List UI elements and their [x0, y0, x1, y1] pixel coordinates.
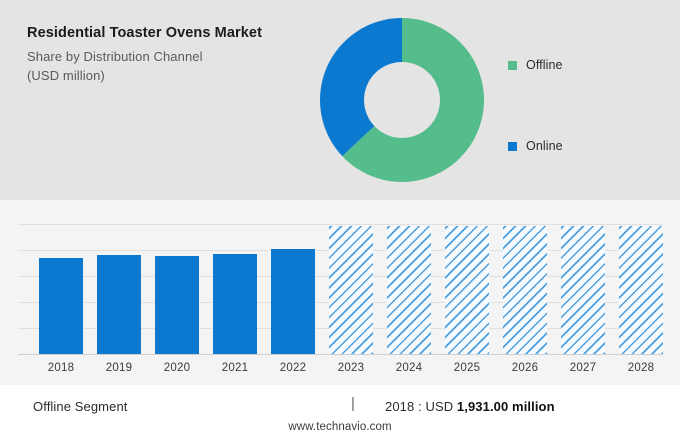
footer-website: www.technavio.com [0, 421, 680, 433]
bar-2027[interactable] [561, 226, 605, 354]
title-block: Residential Toaster Ovens Market Share b… [27, 24, 317, 85]
legend-item-offline[interactable]: Offline [508, 58, 563, 72]
bar-2025[interactable] [445, 226, 489, 354]
x-axis-line [18, 354, 663, 355]
bar-2021[interactable] [213, 254, 257, 354]
donut-hole [364, 62, 440, 138]
bar-2022[interactable] [271, 249, 315, 354]
x-axis-label-2028: 2028 [612, 362, 670, 374]
bar-2023[interactable] [329, 226, 373, 354]
donut-chart [319, 17, 485, 183]
chart-image: Residential Toaster Ovens Market Share b… [0, 0, 680, 440]
donut-chart-svg [319, 17, 485, 183]
footer-value: 2018 : USD 1,931.00 million [385, 399, 555, 414]
x-axis-label-2020: 2020 [148, 362, 206, 374]
x-axis-label-2026: 2026 [496, 362, 554, 374]
footer-separator: | [351, 395, 355, 412]
bar-2024[interactable] [387, 226, 431, 354]
header-band: Residential Toaster Ovens Market Share b… [0, 0, 680, 200]
x-axis-label-2023: 2023 [322, 362, 380, 374]
footer-value-prefix: 2018 : USD [385, 399, 453, 414]
bar-2026[interactable] [503, 226, 547, 354]
page-title: Residential Toaster Ovens Market [27, 24, 317, 43]
gridline [18, 224, 663, 225]
bar-2018[interactable] [39, 258, 83, 355]
x-axis-label-2021: 2021 [206, 362, 264, 374]
x-axis-label-2025: 2025 [438, 362, 496, 374]
legend-label-online: Online [526, 139, 563, 153]
footer: Offline Segment | 2018 : USD 1,931.00 mi… [0, 385, 680, 440]
legend-item-online[interactable]: Online [508, 139, 563, 153]
x-axis-label-2018: 2018 [32, 362, 90, 374]
x-axis-label-2022: 2022 [264, 362, 322, 374]
bar-chart-panel: 2018201920202021202220232024202520262027… [0, 200, 680, 385]
bar-2020[interactable] [155, 256, 199, 354]
footer-segment-label: Offline Segment [33, 399, 127, 414]
chart-subtitle-line2: (USD million) [27, 66, 317, 85]
chart-subtitle-line1: Share by Distribution Channel [27, 47, 317, 66]
legend-label-offline: Offline [526, 58, 563, 72]
bar-2019[interactable] [97, 255, 141, 354]
legend-swatch-offline-icon [508, 61, 517, 70]
footer-value-bold: 1,931.00 million [457, 399, 555, 414]
chart-legend: Offline Online [505, 0, 665, 200]
legend-swatch-online-icon [508, 142, 517, 151]
x-axis-label-2027: 2027 [554, 362, 612, 374]
x-axis-label-2019: 2019 [90, 362, 148, 374]
bar-chart-plot [18, 224, 663, 354]
x-axis-label-2024: 2024 [380, 362, 438, 374]
bar-2028[interactable] [619, 226, 663, 354]
